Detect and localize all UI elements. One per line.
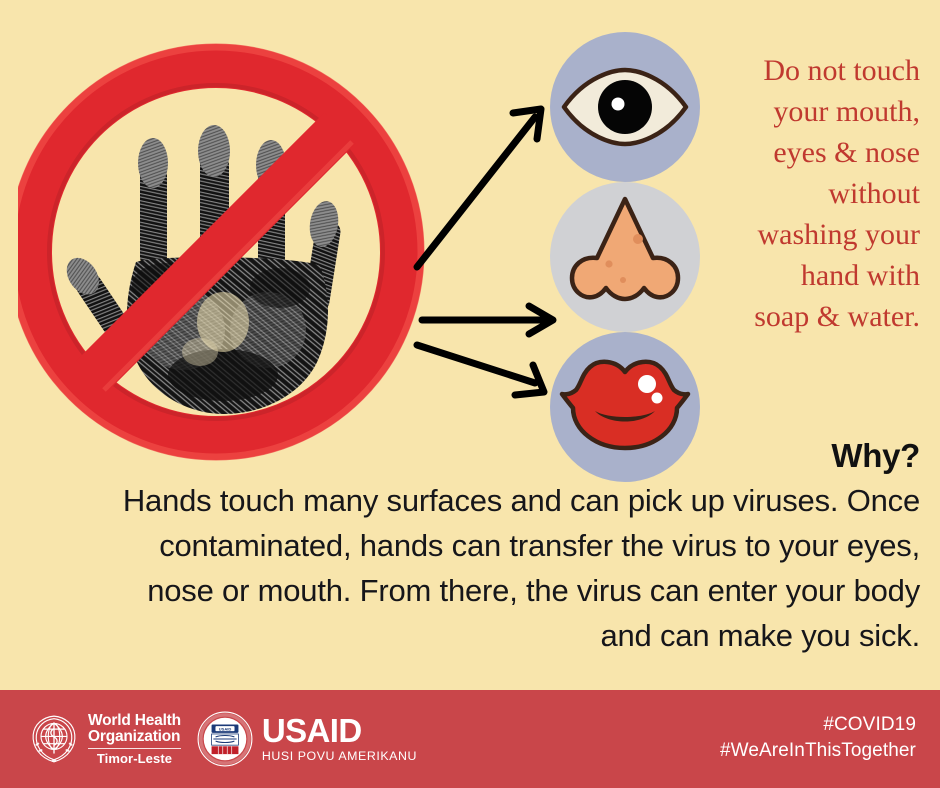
usaid-seal-icon: USAID: [197, 711, 253, 767]
svg-text:USAID: USAID: [219, 726, 232, 731]
headline-line: washing your: [680, 214, 920, 255]
usaid-name: USAID: [262, 715, 417, 746]
headline-line: eyes & nose: [680, 132, 920, 173]
no-touch-hand-sign: [18, 30, 428, 475]
hashtag-weareinthistogether: #WeAreInThisTogether: [720, 738, 916, 764]
arrow-to-mouth: [417, 345, 535, 383]
who-name-line1: World Health: [88, 713, 181, 729]
who-logo: World Health Organization Timor-Leste: [28, 713, 181, 766]
body-line: Hands touch many surfaces and can pick u…: [40, 478, 920, 523]
footer-logos: World Health Organization Timor-Leste: [28, 706, 417, 772]
headline-line: soap & water.: [680, 296, 920, 337]
who-wordmark: World Health Organization Timor-Leste: [88, 713, 181, 766]
headline-line: your mouth,: [680, 91, 920, 132]
nose-icon: [550, 182, 700, 332]
who-divider: [88, 748, 181, 749]
why-heading: Why?: [520, 437, 920, 475]
hashtag-covid19: #COVID19: [720, 712, 916, 738]
headline-line: Do not touch: [680, 50, 920, 91]
headline: Do not touch your mouth, eyes & nose wit…: [680, 50, 920, 337]
who-country-label: Timor-Leste: [88, 752, 181, 766]
eye-icon: [550, 32, 700, 182]
hashtags: #COVID19 #WeAreInThisTogether: [720, 712, 916, 764]
who-emblem-icon: [28, 713, 80, 765]
headline-line: without: [680, 173, 920, 214]
headline-line: hand with: [680, 255, 920, 296]
usaid-logo: USAID USAI: [197, 711, 417, 767]
covid-hand-hygiene-poster: Do not touch your mouth, eyes & nose wit…: [0, 0, 940, 788]
footer-bar: World Health Organization Timor-Leste: [0, 690, 940, 788]
body-line: nose or mouth. From there, the virus can…: [40, 568, 920, 613]
body-line: contaminated, hands can transfer the vir…: [40, 523, 920, 568]
body-line: and can make you sick.: [40, 613, 920, 658]
usaid-wordmark: USAID HUSI POVU AMERIKANU: [262, 715, 417, 763]
who-name-line2: Organization: [88, 729, 181, 745]
why-body-text: Hands touch many surfaces and can pick u…: [40, 478, 920, 658]
arrow-to-eye: [417, 117, 535, 267]
usaid-tagline: HUSI POVU AMERIKANU: [262, 749, 417, 763]
